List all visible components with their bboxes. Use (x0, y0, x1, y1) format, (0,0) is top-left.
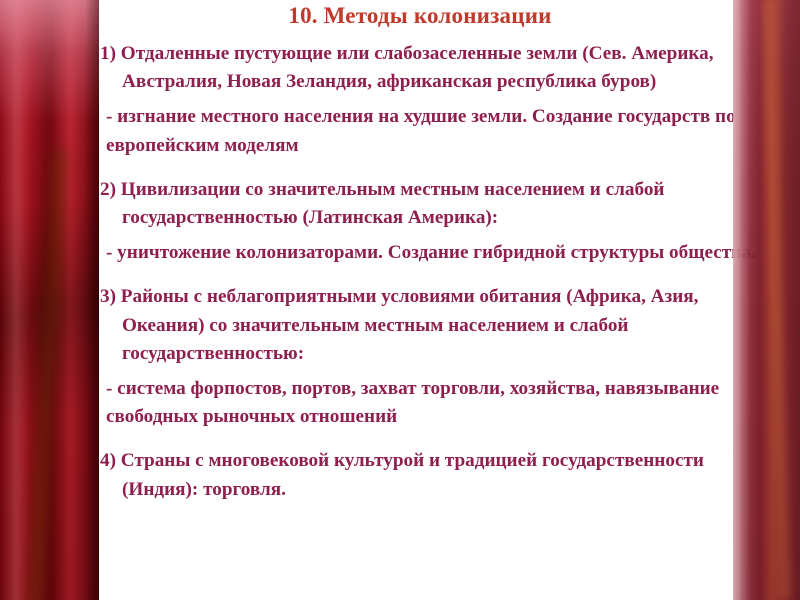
list-item: - система форпостов, портов, захват торг… (100, 375, 780, 431)
list-item: 2) Цивилизации со значительным местным н… (100, 176, 780, 232)
slide-text-layer: 10. Методы колонизации 1) Отдаленные пус… (0, 0, 800, 600)
list-item: - изгнание местного населения на худшие … (100, 103, 780, 159)
list-item: - уничтожение колонизаторами. Создание г… (100, 239, 780, 267)
list-item: 1) Отдаленные пустующие или слабозаселен… (100, 40, 780, 96)
list-item: 3) Районы с неблагоприятными условиями о… (100, 283, 780, 368)
decorative-curtain-right (733, 0, 800, 600)
page-title: 10. Методы колонизации (100, 2, 740, 30)
slide-canvas: 10. Методы колонизации 1) Отдаленные пус… (0, 0, 800, 600)
list-item: 4) Страны с многовековой культурой и тра… (100, 447, 780, 503)
curtain-right-edge-highlight (733, 0, 741, 600)
slide-body: 1) Отдаленные пустующие или слабозаселен… (100, 40, 780, 504)
